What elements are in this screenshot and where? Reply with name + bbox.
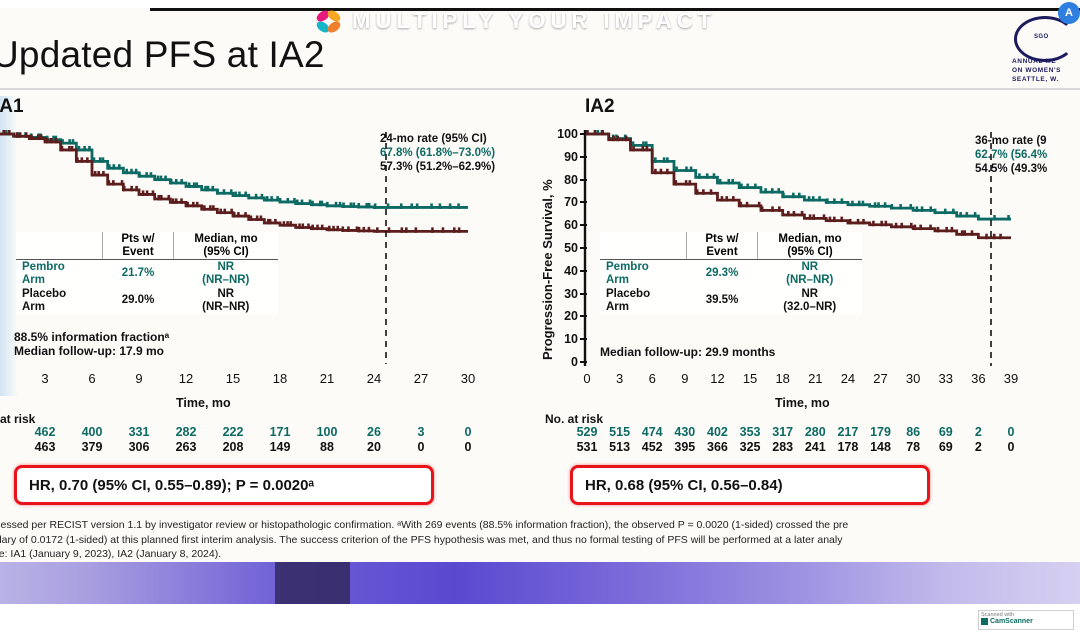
sgo-mark-label: SGO (1034, 34, 1049, 40)
x-tick-label: 33 (932, 371, 960, 386)
ia1-callout-pembro: 67.8% (61.8%–73.0%) (380, 146, 495, 160)
ia1-risk-caption: o. at risk (0, 412, 35, 426)
x-tick-label: 24 (834, 371, 862, 386)
ia2-stats-table: Pts w/Event Median, mo(95% CI) PembroArm… (600, 232, 862, 314)
sgo-line-3: SEATTLE, W. (1012, 76, 1059, 83)
at-risk-count: 148 (865, 440, 897, 454)
footnote-line-1: ssessed per RECIST version 1.1 by invest… (0, 518, 1080, 533)
x-tick-label: 24 (360, 371, 388, 386)
at-risk-count: 100 (311, 425, 343, 439)
y-tick-label: 80 (548, 173, 578, 187)
x-tick-label: 9 (125, 371, 153, 386)
km-curve (587, 134, 1011, 219)
at-risk-count: 395 (669, 440, 701, 454)
ia2-col-median: Median, mo(95% CI) (758, 232, 863, 260)
ia1-row0-event: 21.7% (103, 260, 174, 288)
x-tick-label: 12 (172, 371, 200, 386)
footnote-line-2: ndary of 0.0172 (1-sided) at this planne… (0, 533, 1080, 548)
x-tick-label: 30 (899, 371, 927, 386)
table-row: PlaceboArm 29.0% NR(NR–NR) (16, 287, 278, 314)
at-risk-count: 531 (571, 440, 603, 454)
x-tick-label: 3 (31, 371, 59, 386)
ia2-panel: IA2 (585, 96, 615, 118)
at-risk-count: 462 (29, 425, 61, 439)
at-risk-count: 452 (636, 440, 668, 454)
watermark-line-2-wrap: CamScanner (981, 618, 1071, 625)
ia2-row0-event: 29.3% (687, 260, 758, 288)
at-risk-count: 149 (264, 440, 296, 454)
at-risk-count: 263 (170, 440, 202, 454)
page-title: Updated PFS at IA2 (0, 34, 325, 76)
y-tick-label: 40 (548, 264, 578, 278)
at-risk-count: 69 (930, 440, 962, 454)
x-tick-label: 18 (769, 371, 797, 386)
at-risk-count: 20 (358, 440, 390, 454)
x-tick-label: 27 (407, 371, 435, 386)
at-risk-count: 88 (311, 440, 343, 454)
at-risk-count: 280 (799, 425, 831, 439)
ia1-stats-table: Pts w/Event Median, mo(95% CI) PembroArm… (16, 232, 278, 314)
at-risk-count: 515 (604, 425, 636, 439)
x-tick-label: 21 (313, 371, 341, 386)
ia2-row1-event: 39.5% (687, 287, 758, 314)
x-tick-label: 36 (964, 371, 992, 386)
at-risk-count: 0 (995, 425, 1027, 439)
at-risk-count: 463 (29, 440, 61, 454)
at-risk-count: 379 (76, 440, 108, 454)
ia1-callout-placebo: 57.3% (51.2%–62.9%) (380, 160, 495, 174)
y-tick-label: 20 (548, 309, 578, 323)
x-tick-label: 18 (266, 371, 294, 386)
ia2-row0-median: NR(NR–NR) (758, 260, 863, 288)
ia2-row0-arm: PembroArm (600, 260, 687, 288)
x-tick-label: 21 (801, 371, 829, 386)
at-risk-count: 430 (669, 425, 701, 439)
banner-text: MULTIPLY YOUR IMPACT (352, 8, 716, 34)
x-tick-label: 0 (573, 371, 601, 386)
ia1-col-event: Pts w/Event (103, 232, 174, 260)
ia2-row1-median: NR(32.0–NR) (758, 287, 863, 314)
at-risk-count: 474 (636, 425, 668, 439)
at-risk-count: 179 (865, 425, 897, 439)
at-risk-count: 331 (123, 425, 155, 439)
ia1-followup: Median follow-up: 17.9 mo (14, 344, 164, 358)
table-header-row: Pts w/Event Median, mo(95% CI) (16, 232, 278, 260)
at-risk-count: 86 (897, 425, 929, 439)
top-white-strip (0, 0, 1080, 8)
sgo-line-1: ANNUAL ME (1012, 58, 1056, 65)
at-risk-count: 0 (452, 440, 484, 454)
footnote: ssessed per RECIST version 1.1 by invest… (0, 518, 1080, 562)
ia1-callout-header: 24-mo rate (95% CI) (380, 132, 495, 146)
at-risk-count: 366 (701, 440, 733, 454)
table-row: PembroArm 29.3% NR(NR–NR) (600, 260, 862, 288)
ia2-callout-header: 36-mo rate (9 (975, 134, 1047, 148)
ia1-row1-event: 29.0% (103, 287, 174, 314)
ia2-row1-arm: PlaceboArm (600, 287, 687, 314)
ia2-col-blank (600, 232, 687, 260)
x-tick-label: 6 (78, 371, 106, 386)
at-risk-count: 306 (123, 440, 155, 454)
at-risk-count: 0 (995, 440, 1027, 454)
at-risk-count: 402 (701, 425, 733, 439)
ia1-col-blank (16, 232, 103, 260)
badge-icon: A (1058, 2, 1080, 24)
ia1-row0-arm: PembroArm (16, 260, 103, 288)
at-risk-count: 529 (571, 425, 603, 439)
ia1-label: IA1 (0, 96, 24, 118)
at-risk-count: 0 (405, 440, 437, 454)
bottom-white-strip (0, 604, 1080, 635)
ia1-hr-box: HR, 0.70 (95% CI, 0.55–0.89); P = 0.0020… (14, 465, 434, 505)
slide-root: Updated PFS at IA2 SGO ANNUAL ME ON WOME… (0, 0, 1080, 635)
x-tick-label: 6 (638, 371, 666, 386)
at-risk-count: 513 (604, 440, 636, 454)
ia2-followup: Median follow-up: 29.9 months (600, 345, 775, 359)
ia2-risk-caption: No. at risk (545, 412, 603, 426)
ia1-x-axis-title: Time, mo (176, 396, 231, 410)
at-risk-count: 353 (734, 425, 766, 439)
ia1-info-fraction: 88.5% information fractionᵃ (14, 330, 169, 344)
ia2-hr-text: HR, 0.68 (95% CI, 0.56–0.84) (585, 477, 783, 494)
ia1-hr-text: HR, 0.70 (95% CI, 0.55–0.89); P = 0.0020… (29, 477, 314, 494)
ia1-panel: IA1 (0, 96, 24, 118)
ia1-row1-median: NR(NR–NR) (174, 287, 279, 314)
sgo-logo: SGO ANNUAL ME ON WOMEN'S SEATTLE, W. A (1008, 2, 1080, 86)
at-risk-count: 26 (358, 425, 390, 439)
at-risk-count: 78 (897, 440, 929, 454)
at-risk-count: 241 (799, 440, 831, 454)
ia2-label: IA2 (585, 96, 615, 118)
bottom-banner (0, 562, 1080, 604)
at-risk-count: 283 (767, 440, 799, 454)
x-tick-label: 30 (454, 371, 482, 386)
ia2-col-event: Pts w/Event (687, 232, 758, 260)
table-header-row: Pts w/Event Median, mo(95% CI) (600, 232, 862, 260)
ia2-hr-box: HR, 0.68 (95% CI, 0.56–0.84) (570, 465, 930, 505)
at-risk-count: 2 (962, 425, 994, 439)
at-risk-count: 217 (832, 425, 864, 439)
at-risk-count: 3 (405, 425, 437, 439)
ia2-callout-placebo: 54.5% (49.3% (975, 162, 1047, 176)
ia1-callout: 24-mo rate (95% CI) 67.8% (61.8%–73.0%) … (380, 132, 495, 174)
ia2-x-axis-title: Time, mo (775, 396, 830, 410)
y-tick-label: 10 (548, 332, 578, 346)
y-tick-label: 70 (548, 195, 578, 209)
ia1-row1-arm: PlaceboArm (16, 287, 103, 314)
at-risk-count: 282 (170, 425, 202, 439)
sgo-line-2: ON WOMEN'S (1012, 67, 1061, 74)
x-tick-label: 15 (736, 371, 764, 386)
at-risk-count: 317 (767, 425, 799, 439)
table-row: PembroArm 21.7% NR(NR–NR) (16, 260, 278, 288)
at-risk-count: 400 (76, 425, 108, 439)
ia2-callout-pembro: 62.7% (56.4% (975, 148, 1047, 162)
ia1-col-median: Median, mo(95% CI) (174, 232, 279, 260)
footnote-line-3: ate: IA1 (January 9, 2023), IA2 (January… (0, 547, 1080, 562)
banner-dark-block (275, 562, 350, 604)
x-tick-label: 9 (671, 371, 699, 386)
y-tick-label: 90 (548, 150, 578, 164)
y-tick-label: 100 (548, 127, 578, 141)
km-curve (587, 134, 1011, 238)
at-risk-count: 222 (217, 425, 249, 439)
at-risk-count: 325 (734, 440, 766, 454)
x-tick-label: 15 (219, 371, 247, 386)
at-risk-count: 69 (930, 425, 962, 439)
y-tick-label: 30 (548, 287, 578, 301)
at-risk-count: 171 (264, 425, 296, 439)
y-tick-label: 60 (548, 218, 578, 232)
x-tick-label: 39 (997, 371, 1025, 386)
x-tick-label: 3 (606, 371, 634, 386)
at-risk-count: 208 (217, 440, 249, 454)
watermark-line-2: CamScanner (990, 618, 1033, 625)
x-tick-label: 12 (703, 371, 731, 386)
at-risk-count: 2 (962, 440, 994, 454)
table-row: PlaceboArm 39.5% NR(32.0–NR) (600, 287, 862, 314)
camscanner-watermark: Scanned with CamScanner (978, 610, 1074, 630)
x-tick-label: 27 (867, 371, 895, 386)
at-risk-count: 0 (452, 425, 484, 439)
ia1-row0-median: NR(NR–NR) (174, 260, 279, 288)
y-tick-label: 50 (548, 241, 578, 255)
pinwheel-logo-icon (312, 8, 344, 36)
ia2-callout: 36-mo rate (9 62.7% (56.4% 54.5% (49.3% (975, 134, 1047, 176)
title-divider (0, 88, 1080, 90)
y-tick-label: 0 (548, 355, 578, 369)
at-risk-count: 178 (832, 440, 864, 454)
